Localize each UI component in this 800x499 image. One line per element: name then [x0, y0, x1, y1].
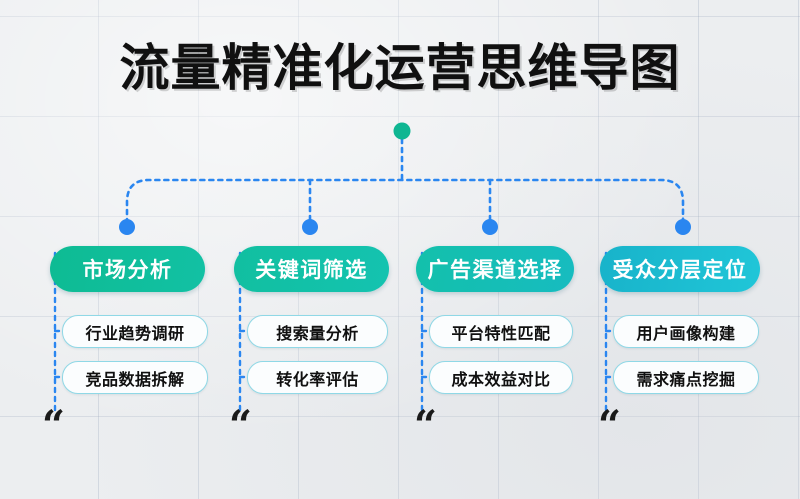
sub-node[interactable]: 竞品数据拆解 — [62, 361, 208, 394]
branch-node[interactable]: 受众分层定位 — [600, 246, 760, 292]
branch-node[interactable]: 广告渠道选择 — [416, 246, 574, 292]
branch-dot — [675, 219, 691, 235]
sub-node-label: 搜索量分析 — [276, 320, 359, 344]
sub-node-label: 需求痛点挖掘 — [636, 366, 735, 390]
sub-node[interactable]: 转化率评估 — [247, 361, 388, 394]
branch-node-label: 关键词筛选 — [255, 254, 368, 284]
quote-icon: “ — [414, 406, 437, 446]
branch-node-label: 受众分层定位 — [613, 254, 748, 284]
sub-node-label: 用户画像构建 — [636, 320, 735, 344]
sub-node[interactable]: 成本效益对比 — [429, 361, 573, 394]
sub-node[interactable]: 行业趋势调研 — [62, 315, 208, 348]
page-title: 流量精准化运营思维导图 — [0, 42, 800, 95]
mindmap-canvas: 流量精准化运营思维导图 市场分析行业趋势调研竞品数据拆解“关键词筛选搜索量分析转… — [0, 0, 800, 499]
sub-node[interactable]: 用户画像构建 — [613, 315, 759, 348]
branch-node[interactable]: 市场分析 — [50, 246, 205, 292]
branch-dot — [302, 219, 318, 235]
branch-bus — [127, 180, 683, 223]
branch-node-label: 市场分析 — [83, 254, 173, 284]
quote-icon: “ — [42, 406, 65, 446]
sub-node-label: 平台特性匹配 — [451, 320, 550, 344]
sub-node-label: 转化率评估 — [276, 366, 359, 390]
sub-node-label: 竞品数据拆解 — [85, 366, 184, 390]
quote-icon: “ — [598, 406, 621, 446]
root-node-dot — [394, 123, 411, 140]
quote-icon: “ — [229, 406, 252, 446]
sub-node-label: 行业趋势调研 — [85, 320, 184, 344]
sub-node[interactable]: 平台特性匹配 — [429, 315, 573, 348]
branch-dot — [119, 219, 135, 235]
sub-node-label: 成本效益对比 — [451, 366, 550, 390]
branch-dot — [482, 219, 498, 235]
sub-node[interactable]: 搜索量分析 — [247, 315, 388, 348]
branch-node[interactable]: 关键词筛选 — [234, 246, 389, 292]
sub-node[interactable]: 需求痛点挖掘 — [613, 361, 759, 394]
branch-node-label: 广告渠道选择 — [428, 254, 563, 284]
